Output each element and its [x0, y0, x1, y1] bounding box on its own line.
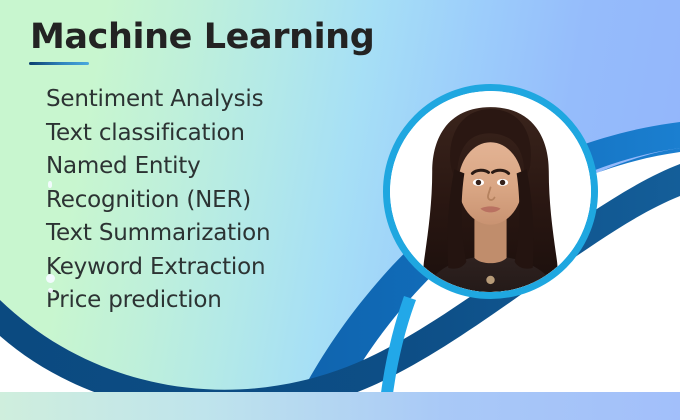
ml-service-banner: Machine Learning Sentiment Analysis Text…	[0, 0, 680, 420]
avatar	[383, 84, 598, 299]
avatar-inner	[390, 91, 591, 292]
portrait-photo-icon	[390, 91, 591, 292]
bottom-light-band	[0, 392, 680, 420]
